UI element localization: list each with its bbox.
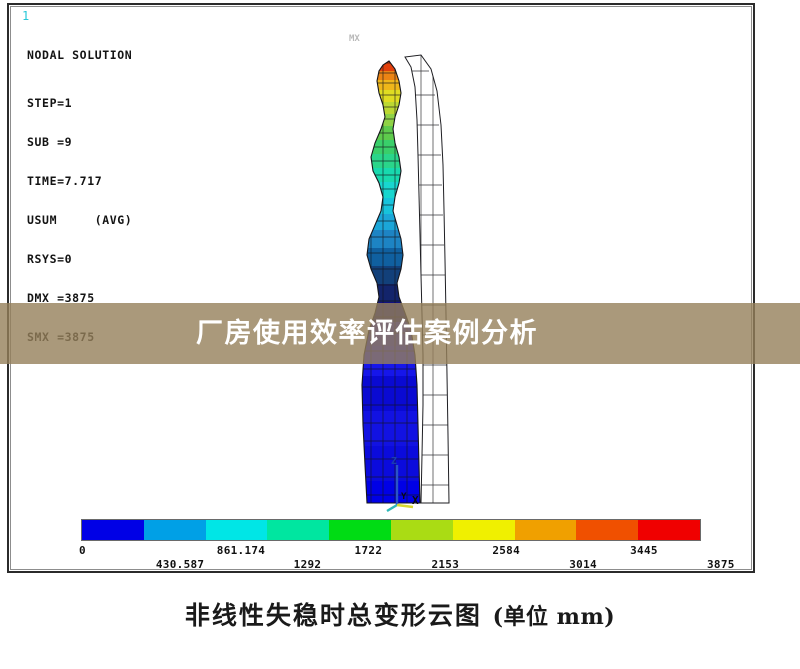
legend-band-1	[144, 520, 206, 540]
caption-main: 非线性失稳时总变形云图	[185, 601, 482, 630]
legend-tick-0: 0	[79, 545, 86, 556]
header-title: NODAL SOLUTION	[27, 50, 132, 62]
ansys-graphics-frame: 1 NODAL SOLUTION STEP=1 SUB =9 TIME=7.71…	[7, 3, 755, 573]
screenshot-root: 1 NODAL SOLUTION STEP=1 SUB =9 TIME=7.71…	[0, 0, 800, 669]
legend-tick-5: 2153	[431, 559, 459, 570]
header-time: TIME=7.717	[27, 176, 132, 188]
axis-x-label: X	[412, 495, 419, 506]
legend-band-7	[515, 520, 577, 540]
max-deformation-marker: MX	[349, 35, 360, 44]
legend-band-4	[329, 520, 391, 540]
legend-band-3	[267, 520, 329, 540]
legend-tick-9: 3875	[707, 559, 735, 570]
legend-tick-7: 3014	[569, 559, 597, 570]
deformed-model-plot: MX	[309, 25, 509, 515]
caption-unit: (单位 mm)	[493, 604, 616, 630]
coordinate-triad-icon: Z Y X	[383, 457, 431, 513]
header-sub: SUB =9	[27, 137, 132, 149]
legend-band-8	[576, 520, 638, 540]
legend-tick-3: 1292	[294, 559, 322, 570]
legend-ticks-upper-row: 0861.174172225843445	[81, 545, 721, 559]
header-usum: USUM (AVG)	[27, 215, 132, 227]
axis-y-label: Y	[401, 493, 406, 502]
legend-tick-1: 430.587	[156, 559, 204, 570]
contour-model-svg	[309, 25, 509, 515]
legend-tick-8: 3445	[630, 545, 658, 556]
legend-ticks-lower-row: 430.5871292215330143875	[81, 559, 741, 573]
legend-band-9	[638, 520, 700, 540]
overlay-banner: 厂房使用效率评估案例分析	[0, 303, 800, 364]
window-number-label: 1	[22, 10, 29, 22]
legend-band-5	[391, 520, 453, 540]
contour-bands	[309, 51, 509, 515]
legend-tick-4: 1722	[355, 545, 383, 556]
banner-title: 厂房使用效率评估案例分析	[196, 320, 538, 347]
contour-color-legend	[81, 519, 701, 541]
legend-tick-6: 2584	[492, 545, 520, 556]
figure-caption: 非线性失稳时总变形云图 (单位 mm)	[0, 602, 800, 630]
legend-tick-2: 861.174	[217, 545, 265, 556]
legend-band-0	[82, 520, 144, 540]
legend-band-2	[206, 520, 268, 540]
legend-band-6	[453, 520, 515, 540]
header-step: STEP=1	[27, 98, 132, 110]
header-rsys: RSYS=0	[27, 254, 132, 266]
